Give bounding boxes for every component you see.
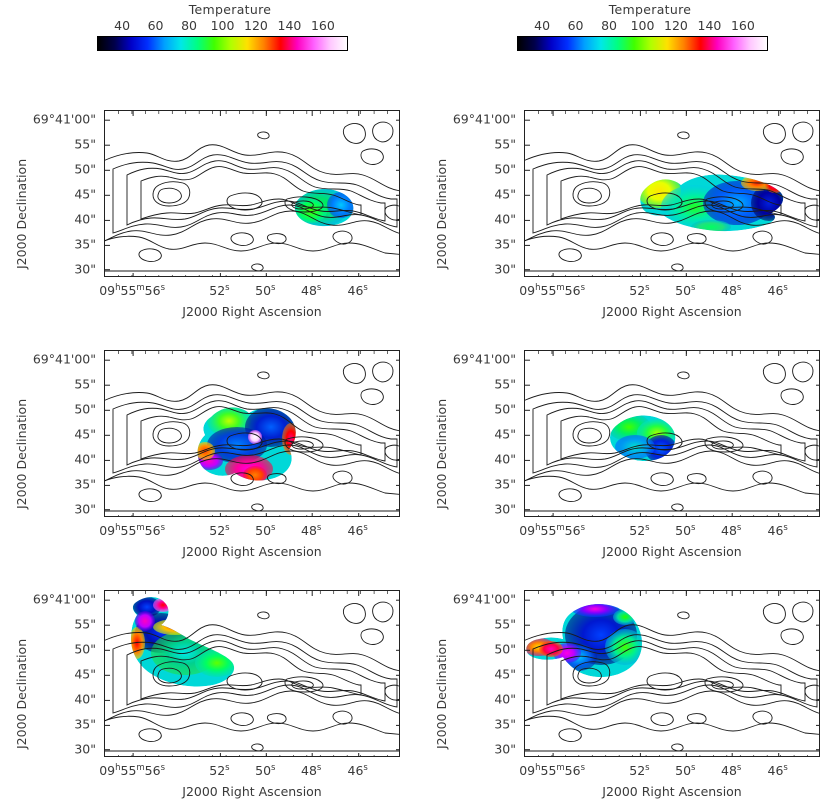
panel-bottom-right: 69°41'00"55"50"45"40"35"30"09h55m56s52s5… — [0, 0, 830, 779]
contour-line — [647, 673, 682, 690]
contour-line — [559, 729, 581, 742]
x-axis-label: J2000 Right Ascension — [104, 784, 400, 799]
y-tick-label: 45" — [446, 667, 516, 682]
x-axis-label: J2000 Right Ascension — [524, 784, 820, 799]
contour-line — [793, 602, 813, 622]
temperature-blob — [613, 609, 637, 625]
y-tick-label: 35" — [446, 717, 516, 732]
contour-line — [672, 744, 683, 751]
contour-line — [753, 711, 772, 724]
x-tick-label: 48s — [721, 763, 741, 778]
temperature-overlay-6 — [525, 601, 645, 677]
contour-line — [763, 604, 785, 624]
contour-line — [687, 714, 706, 724]
temperature-blob — [571, 601, 619, 617]
contour-line — [705, 677, 743, 692]
contour-line — [678, 612, 689, 619]
x-tick-label: 52s — [629, 763, 649, 778]
x-tick-label: 46s — [768, 763, 788, 778]
x-tick-label: 50s — [675, 763, 695, 778]
y-tick-label: 69°41'00" — [446, 592, 516, 607]
plot-frame-6 — [524, 590, 820, 757]
contour-line — [781, 629, 803, 645]
contour-line — [651, 713, 673, 726]
y-tick-label: 40" — [446, 692, 516, 707]
y-tick-label: 50" — [446, 642, 516, 657]
y-axis-label: J2000 Declination — [434, 639, 449, 749]
plot-graphics-6 — [525, 591, 820, 757]
x-tick-label: 09h55m56s — [519, 763, 585, 778]
y-tick-label: 55" — [446, 617, 516, 632]
y-tick-label: 30" — [446, 741, 516, 756]
contour-line — [805, 685, 820, 700]
figure-canvas: Temperature406080100120140160 Temperatur… — [0, 0, 830, 779]
